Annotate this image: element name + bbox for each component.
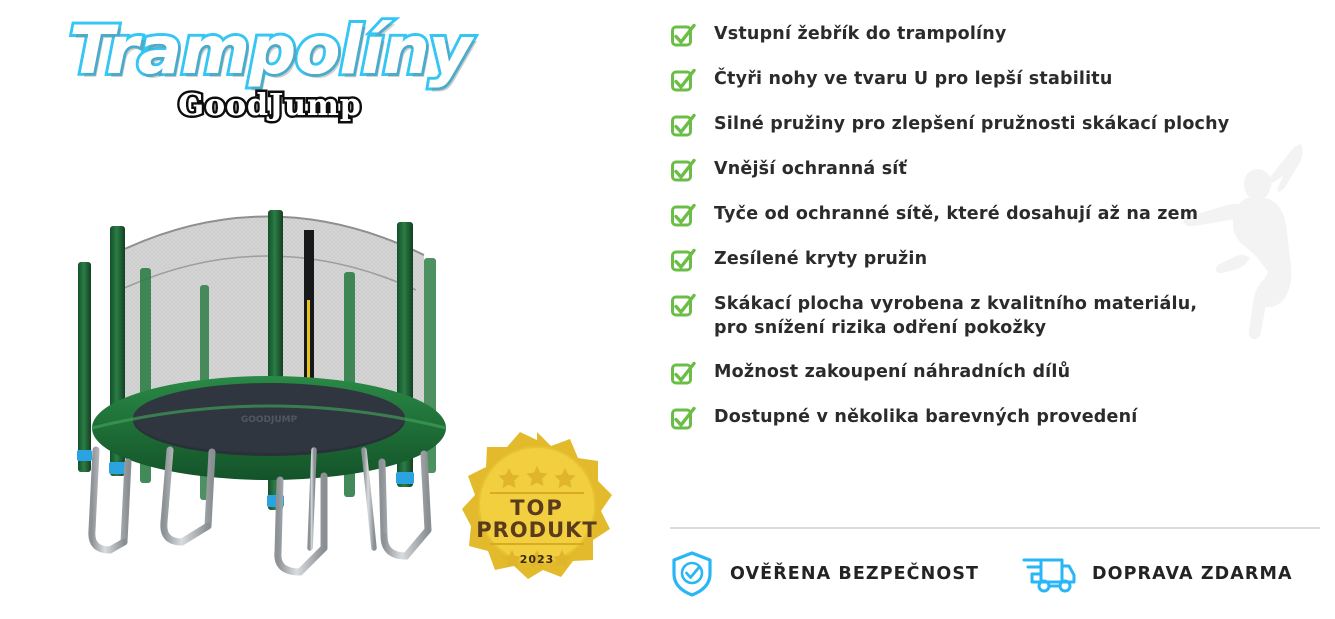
feature-list: Vstupní žebřík do trampolíny Čtyři nohy … xyxy=(670,22,1330,450)
trust-badge-label: DOPRAVA ZDARMA xyxy=(1092,564,1293,584)
feature-label: Tyče od ochranné sítě, které dosahují až… xyxy=(714,202,1198,226)
feature-item: Vstupní žebřík do trampolíny xyxy=(670,22,1330,49)
svg-text:GOODJUMP: GOODJUMP xyxy=(241,415,298,425)
checkbox-check-icon xyxy=(670,248,696,274)
checkbox-check-icon xyxy=(670,293,696,319)
trust-badge-shipping: DOPRAVA ZDARMA xyxy=(1020,552,1293,596)
feature-label: Čtyři nohy ve tvaru U pro lepší stabilit… xyxy=(714,67,1113,91)
feature-label: Dostupné v několika barevných provedení xyxy=(714,405,1137,429)
feature-item: Silné pružiny pro zlepšení pružnosti ská… xyxy=(670,112,1330,139)
trust-badge-label: OVĚŘENA BEZPEČNOST xyxy=(730,564,979,584)
brand-subtitle: GoodJump xyxy=(0,88,540,123)
section-divider xyxy=(670,527,1320,529)
feature-label: Vstupní žebřík do trampolíny xyxy=(714,22,1007,46)
delivery-truck-icon xyxy=(1020,552,1076,596)
trust-badges-row: OVĚŘENA BEZPEČNOST DOPRAVA ZDARMA xyxy=(670,546,1330,602)
feature-item: Možnost zakoupení náhradních dílů xyxy=(670,360,1330,387)
checkbox-check-icon xyxy=(670,113,696,139)
feature-label: Silné pružiny pro zlepšení pružnosti ská… xyxy=(714,112,1229,136)
left-panel: Trampolíny Trampolíny GoodJump GoodJump xyxy=(0,0,660,619)
checkbox-check-icon xyxy=(670,203,696,229)
checkbox-check-icon xyxy=(670,68,696,94)
checkbox-check-icon xyxy=(670,23,696,49)
checkbox-check-icon xyxy=(670,361,696,387)
right-panel: Vstupní žebřík do trampolíny Čtyři nohy … xyxy=(660,0,1335,619)
feature-item: Skákací plocha vyrobena z kvalitního mat… xyxy=(670,292,1330,340)
feature-label: Zesílené kryty pružin xyxy=(714,247,927,271)
badge-line2: PRODUKT xyxy=(476,518,598,542)
promo-banner: Trampolíny Trampolíny GoodJump GoodJump xyxy=(0,0,1335,619)
feature-label: Skákací plocha vyrobena z kvalitního mat… xyxy=(714,292,1197,340)
feature-item: Tyče od ochranné sítě, které dosahují až… xyxy=(670,202,1330,229)
checkbox-check-icon xyxy=(670,406,696,432)
trust-badge-safety: OVĚŘENA BEZPEČNOST xyxy=(670,550,1020,598)
checkbox-check-icon xyxy=(670,158,696,184)
shield-check-icon xyxy=(670,550,714,598)
badge-year: 2023 xyxy=(520,553,555,566)
award-badge: TOP PRODUKT 2023 xyxy=(462,430,612,580)
product-image: GOODJUMP xyxy=(52,150,482,580)
feature-item: Dostupné v několika barevných provedení xyxy=(670,405,1330,432)
badge-line1: TOP xyxy=(510,496,564,520)
feature-item: Zesílené kryty pružin xyxy=(670,247,1330,274)
feature-item: Vnější ochranná síť xyxy=(670,157,1330,184)
feature-item: Čtyři nohy ve tvaru U pro lepší stabilit… xyxy=(670,67,1330,94)
feature-label: Možnost zakoupení náhradních dílů xyxy=(714,360,1070,384)
trampoline-pad: GOODJUMP xyxy=(92,376,446,480)
feature-label: Vnější ochranná síť xyxy=(714,157,907,181)
page-title: Trampolíny xyxy=(0,12,540,89)
